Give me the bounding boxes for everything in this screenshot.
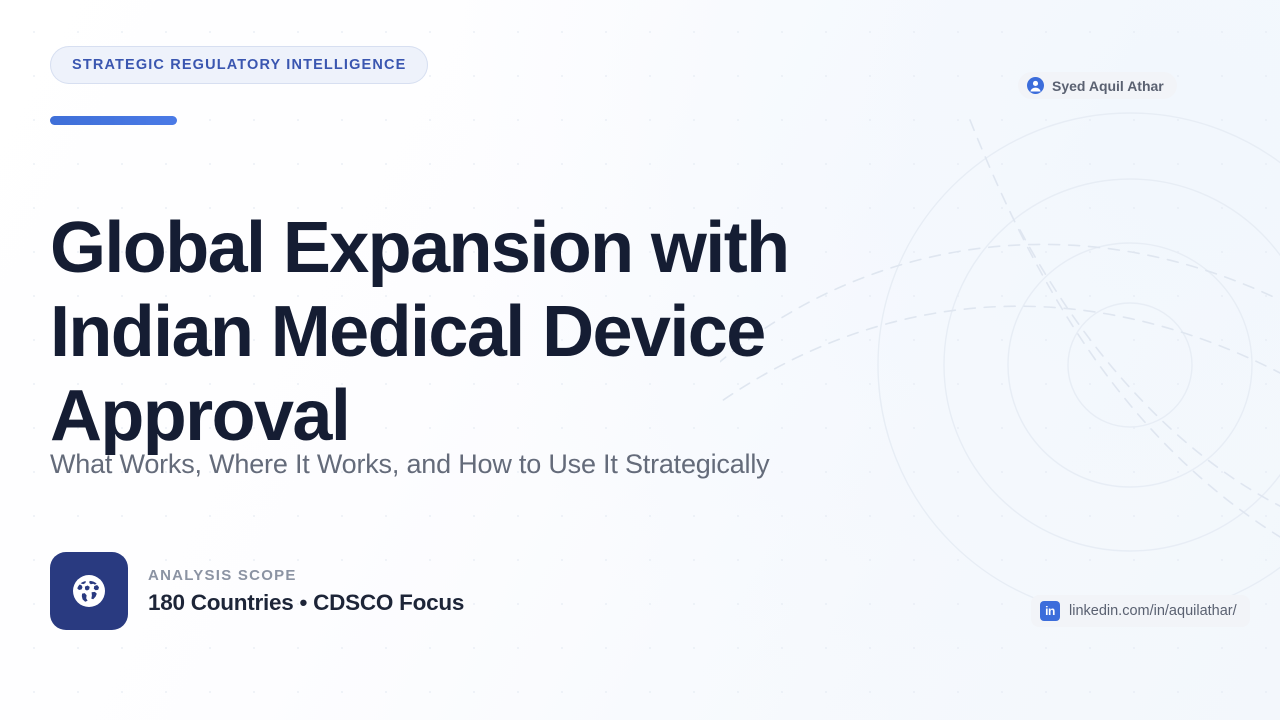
page-title-line-2: Indian Medical Device	[50, 290, 930, 374]
author-chip: Syed Aquil Athar	[1018, 72, 1177, 99]
linkedin-icon: in	[1040, 601, 1060, 621]
analysis-scope-block: ANALYSIS SCOPE 180 Countries • CDSCO Foc…	[50, 552, 464, 630]
analysis-scope-label: ANALYSIS SCOPE	[148, 567, 464, 584]
author-name: Syed Aquil Athar	[1052, 78, 1164, 94]
page-title: Global Expansion with Indian Medical Dev…	[50, 206, 930, 458]
user-avatar-icon	[1027, 77, 1044, 94]
linkedin-chip[interactable]: in linkedin.com/in/aquilathar/	[1031, 595, 1250, 627]
globe-icon	[50, 552, 128, 630]
linkedin-url: linkedin.com/in/aquilathar/	[1069, 603, 1237, 619]
analysis-scope-value: 180 Countries • CDSCO Focus	[148, 590, 464, 616]
page-subtitle: What Works, Where It Works, and How to U…	[50, 449, 769, 480]
page-title-line-3: Approval	[50, 374, 930, 458]
eyebrow-badge: STRATEGIC REGULATORY INTELLIGENCE	[50, 46, 428, 84]
presentation-slide: STRATEGIC REGULATORY INTELLIGENCE Global…	[0, 0, 1280, 720]
eyebrow-label: STRATEGIC REGULATORY INTELLIGENCE	[72, 57, 406, 73]
accent-bar	[50, 116, 177, 125]
page-title-line-1: Global Expansion with	[50, 206, 930, 290]
